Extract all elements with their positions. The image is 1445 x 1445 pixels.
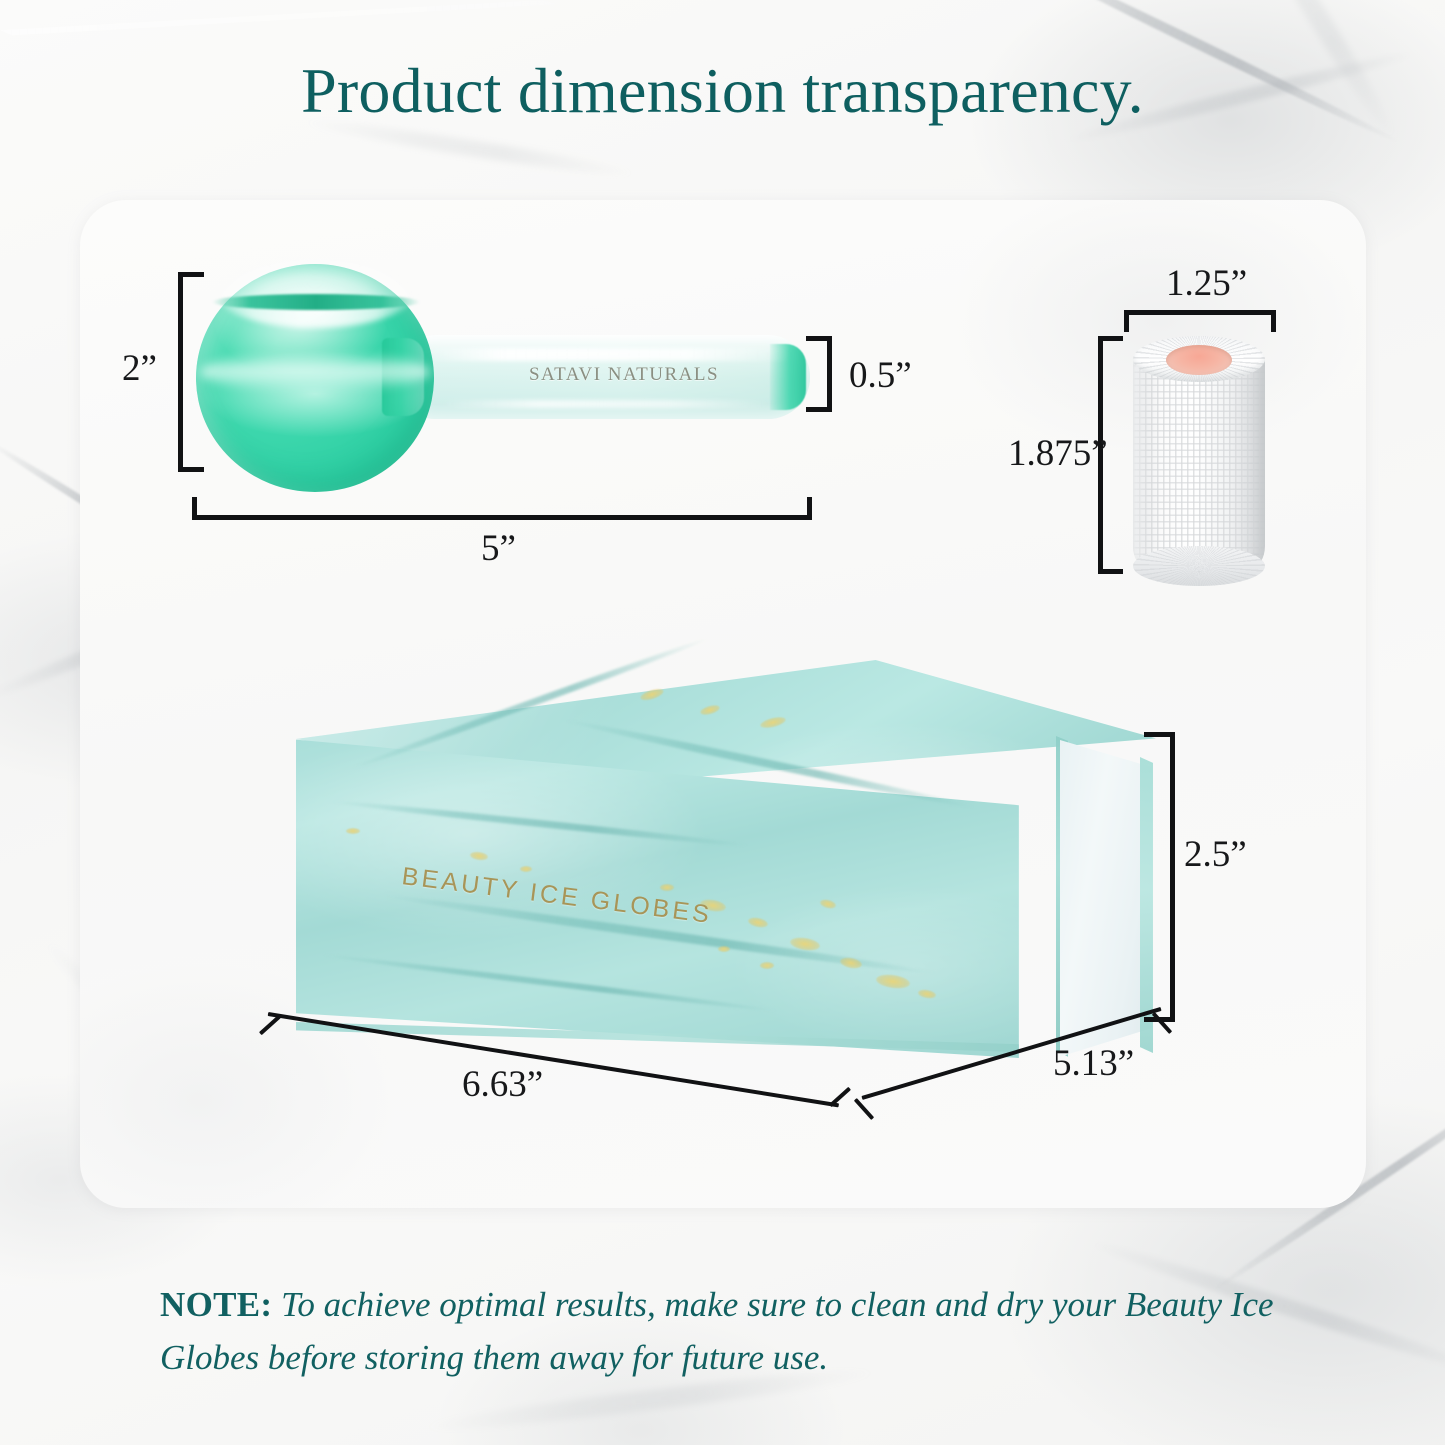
page-title: Product dimension transparency.	[0, 54, 1445, 128]
box-gold-fleck	[520, 866, 532, 872]
globe-waterline	[212, 294, 420, 310]
infographic-canvas: Product dimension transparency. SATAVI N…	[0, 0, 1445, 1445]
globe-width-label: 5”	[481, 527, 516, 570]
sleeve-height-label: 1.875”	[1008, 432, 1108, 475]
sleeve-bottom-rim	[1133, 546, 1265, 586]
box-gold-fleck	[760, 962, 774, 969]
box-width-label: 6.63”	[462, 1063, 543, 1106]
sleeve-width-label: 1.25”	[1166, 262, 1247, 305]
globe-handle-label: 0.5”	[849, 354, 912, 397]
box-height-label: 2.5”	[1184, 833, 1247, 876]
globe-highlight-band	[200, 352, 430, 392]
globe-frost-top	[216, 258, 414, 328]
box-gold-fleck	[660, 884, 674, 891]
sleeve-body	[1133, 352, 1265, 568]
globe-brand-text: SATAVI NATURALS	[494, 364, 754, 386]
box-top-highlight	[0, 0, 800, 52]
box-right-face	[1060, 740, 1152, 1060]
globe-handle-highlight	[420, 348, 790, 361]
box-gold-fleck	[346, 828, 360, 834]
gift-box-illustration: BEAUTY ICE GLOBES 2.5” 6.63” 5.13”	[0, 0, 800, 52]
note-label: NOTE:	[160, 1285, 272, 1324]
note-text: To achieve optimal results, make sure to…	[160, 1285, 1274, 1377]
note-block: NOTE: To achieve optimal results, make s…	[160, 1278, 1290, 1384]
box-depth-label: 5.13”	[1053, 1042, 1134, 1085]
sleeve-inner-cavity	[1166, 345, 1232, 375]
box-gold-fleck	[718, 946, 730, 952]
globe-handle-highlight-lower	[440, 400, 770, 408]
globe-height-label: 2”	[122, 347, 157, 390]
